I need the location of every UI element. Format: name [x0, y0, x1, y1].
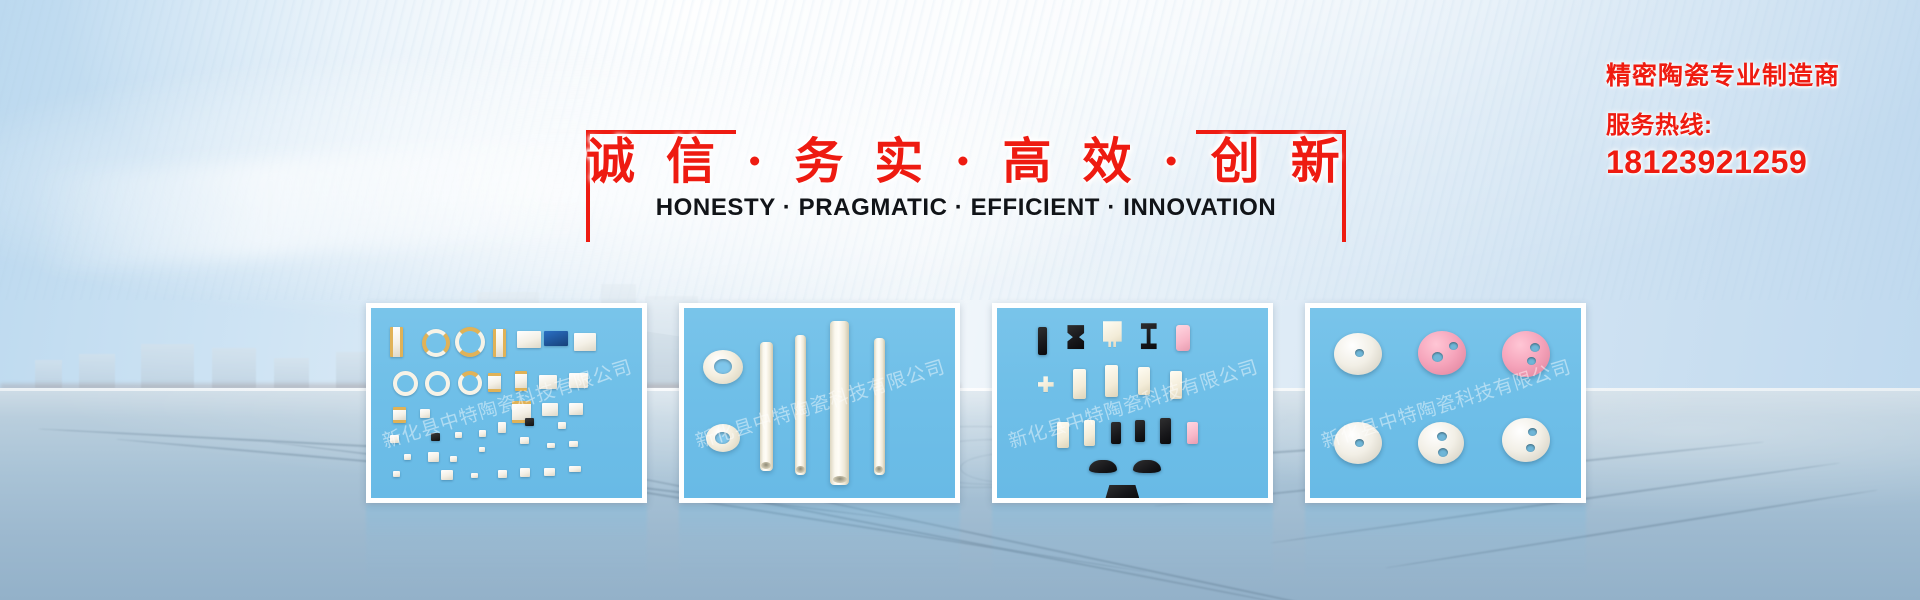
hotline-label: 服务热线: — [1606, 105, 1840, 140]
company-tagline: 精密陶瓷专业制造商 — [1606, 56, 1840, 92]
panel-watermark: 新化县中特陶瓷科技有限公司 — [378, 352, 635, 454]
product-panel-ceramic-tubes[interactable]: 新化县中特陶瓷科技有限公司 — [679, 303, 960, 503]
panel-photo-1: 新化县中特陶瓷科技有限公司 — [371, 308, 642, 498]
product-panel-ceramic-eyelets[interactable]: 新化县中特陶瓷科技有限公司 — [1305, 303, 1586, 503]
hotline-phone-number[interactable]: 18123921259 — [1606, 144, 1840, 181]
panel-photo-3: 新化县中特陶瓷科技有限公司 — [997, 308, 1268, 498]
promo-banner: 诚 信 · 务 实 · 高 效 · 创 新 HONESTY · PRAGMATI… — [0, 0, 1920, 600]
slogan-block: 诚 信 · 务 实 · 高 效 · 创 新 HONESTY · PRAGMATI… — [586, 130, 1346, 242]
panel-photo-4: 新化县中特陶瓷科技有限公司 — [1310, 308, 1581, 498]
panel-watermark: 新化县中特陶瓷科技有限公司 — [1004, 352, 1261, 454]
panel-photo-2: 新化县中特陶瓷科技有限公司 — [684, 308, 955, 498]
contact-block: 精密陶瓷专业制造商 服务热线: 18123921259 — [1606, 56, 1840, 181]
product-panel-smd-components[interactable]: 新化县中特陶瓷科技有限公司 — [366, 303, 647, 503]
slogan-english: HONESTY · PRAGMATIC · EFFICIENT · INNOVA… — [586, 194, 1346, 222]
product-panel-row: 新化县中特陶瓷科技有限公司 新化县中特陶瓷科技有限公司 — [366, 303, 1586, 503]
slogan-chinese: 诚 信 · 务 实 · 高 效 · 创 新 — [586, 122, 1346, 193]
product-panel-structural-parts[interactable]: 新化县中特陶瓷科技有限公司 — [992, 303, 1273, 503]
